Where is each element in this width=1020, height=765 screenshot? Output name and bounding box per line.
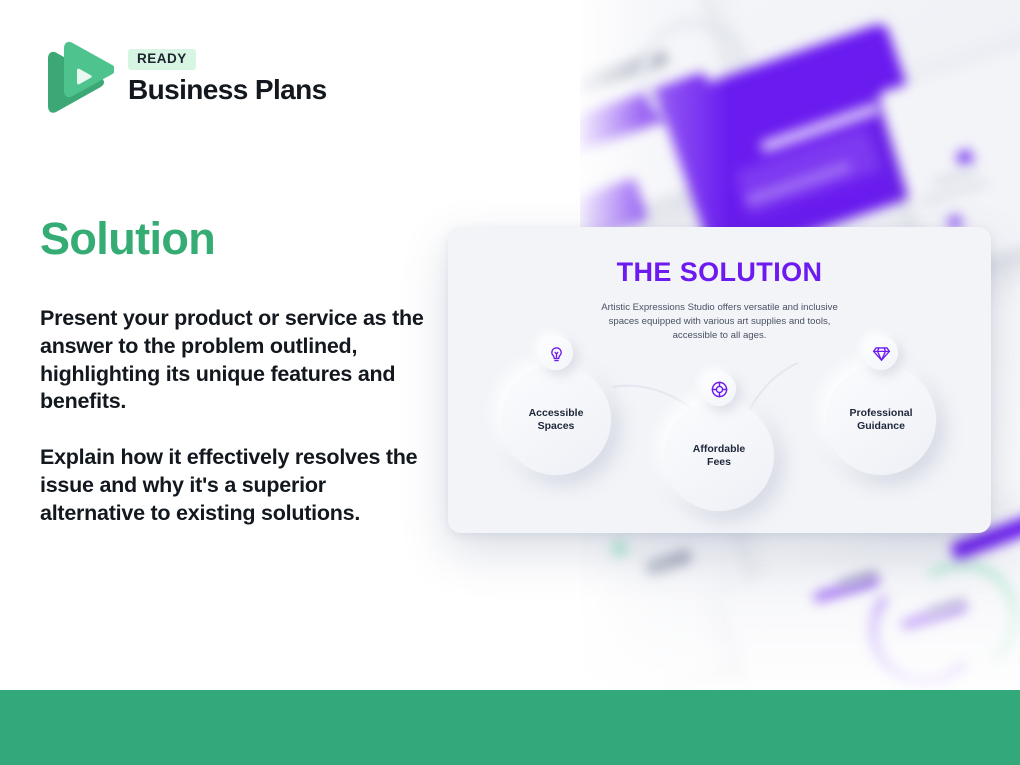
brand-logo-block[interactable]: READY Business Plans: [40, 38, 327, 116]
feature-bubble-group: Accessible Spaces Affordable Fees: [448, 337, 991, 533]
feature-icon-wrapper-affordable-fees: [702, 372, 736, 406]
feature-label-line-2: Spaces: [538, 420, 575, 432]
feature-label-line-1: Affordable: [693, 443, 746, 455]
brand-wordmark: READY Business Plans: [128, 49, 327, 105]
feature-bubble-affordable-fees[interactable]: Affordable Fees: [664, 401, 774, 511]
body-paragraph-2: Explain how it effectively resolves the …: [40, 444, 430, 527]
body-paragraph-1: Present your product or service as the a…: [40, 305, 430, 416]
feature-label-line-2: Guidance: [857, 420, 905, 432]
footer-bar: [0, 690, 1020, 765]
feature-bubble-label: Professional Guidance: [849, 407, 912, 434]
feature-label-line-1: Accessible: [529, 407, 584, 419]
ready-badge: READY: [128, 49, 196, 70]
feature-icon-wrapper-professional-guidance: [864, 336, 898, 370]
lifebuoy-icon: [710, 380, 729, 399]
page-title: Solution: [40, 214, 215, 264]
preview-title: THE SOLUTION: [448, 257, 991, 288]
lightbulb-icon: [547, 344, 566, 363]
feature-bubble-professional-guidance[interactable]: Professional Guidance: [826, 365, 936, 475]
feature-icon-wrapper-accessible-spaces: [539, 336, 573, 370]
feature-bubble-accessible-spaces[interactable]: Accessible Spaces: [501, 365, 611, 475]
play-triangle-logo-icon: [40, 38, 114, 116]
solution-preview-card: THE SOLUTION Artistic Expressions Studio…: [448, 227, 991, 533]
body-copy: Present your product or service as the a…: [40, 305, 430, 528]
feature-label-line-2: Fees: [707, 456, 731, 468]
feature-label-line-1: Professional: [849, 407, 912, 419]
brand-name: Business Plans: [128, 75, 327, 105]
feature-bubble-label: Accessible Spaces: [529, 407, 584, 434]
presentation-slide: THE SOLUTION Artistic Expressions Studio…: [0, 0, 1020, 765]
feature-bubble-label: Affordable Fees: [693, 443, 746, 470]
diamond-icon: [872, 344, 891, 363]
